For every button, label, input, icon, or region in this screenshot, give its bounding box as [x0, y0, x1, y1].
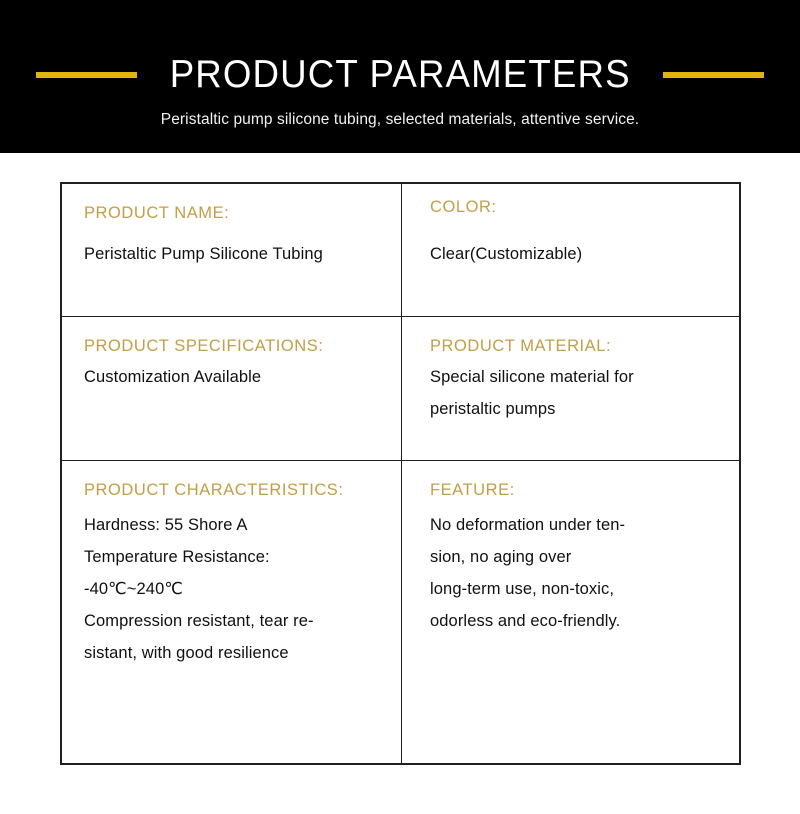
spec-value-line: Special silicone material for: [430, 361, 719, 393]
spec-value-line: peristaltic pumps: [430, 393, 719, 425]
spec-value: No deformation under ten- sion, no aging…: [430, 509, 719, 637]
spec-cell-product-characteristics: PRODUCT CHARACTERISTICS: Hardness: 55 Sh…: [62, 461, 402, 763]
spec-value: Peristaltic Pump Silicone Tubing: [84, 238, 381, 270]
spec-value-line: Customization Available: [84, 361, 381, 393]
spec-value-line: Clear(Customizable): [430, 238, 719, 270]
spec-value-line: Hardness: 55 Shore A: [84, 509, 381, 541]
spec-value-line: odorless and eco-friendly.: [430, 605, 719, 637]
spec-value-line: Temperature Resistance:: [84, 541, 381, 573]
spec-label: COLOR:: [430, 196, 719, 218]
spec-value: Clear(Customizable): [430, 238, 719, 270]
spec-value-line: -40℃~240℃: [84, 573, 381, 605]
spec-cell-product-specifications: PRODUCT SPECIFICATIONS: Customization Av…: [62, 317, 402, 460]
title-rule-left-decoration: [36, 72, 137, 78]
spec-label: PRODUCT MATERIAL:: [430, 335, 719, 357]
spec-value: Customization Available: [84, 361, 381, 393]
spec-label: FEATURE:: [430, 479, 719, 501]
spec-label: PRODUCT NAME:: [84, 202, 381, 224]
header-band: PRODUCT PARAMETERS Peristaltic pump sili…: [0, 0, 800, 153]
spec-value-line: sion, no aging over: [430, 541, 719, 573]
spec-value-line: Peristaltic Pump Silicone Tubing: [84, 238, 381, 270]
spec-label: PRODUCT SPECIFICATIONS:: [84, 335, 381, 357]
spec-value-line: Compression resistant, tear re-: [84, 605, 381, 637]
spec-value: Special silicone material for peristalti…: [430, 361, 719, 425]
title-row: PRODUCT PARAMETERS: [0, 48, 800, 102]
spec-cell-product-name: PRODUCT NAME: Peristaltic Pump Silicone …: [62, 184, 402, 316]
page-title: PRODUCT PARAMETERS: [153, 53, 648, 97]
table-row: PRODUCT CHARACTERISTICS: Hardness: 55 Sh…: [62, 461, 739, 763]
spec-cell-color: COLOR: Clear(Customizable): [402, 184, 739, 316]
title-rule-right-decoration: [663, 72, 764, 78]
table-row: PRODUCT NAME: Peristaltic Pump Silicone …: [62, 184, 739, 317]
page-subtitle: Peristaltic pump silicone tubing, select…: [0, 110, 800, 130]
spec-cell-product-material: PRODUCT MATERIAL: Special silicone mater…: [402, 317, 739, 460]
spec-cell-feature: FEATURE: No deformation under ten- sion,…: [402, 461, 739, 763]
spec-value-line: long-term use, non-toxic,: [430, 573, 719, 605]
product-parameters-table: PRODUCT NAME: Peristaltic Pump Silicone …: [60, 182, 741, 765]
spec-value: Hardness: 55 Shore A Temperature Resista…: [84, 509, 381, 669]
spec-value-line: sistant, with good resilience: [84, 637, 381, 669]
table-row: PRODUCT SPECIFICATIONS: Customization Av…: [62, 317, 739, 461]
spec-label: PRODUCT CHARACTERISTICS:: [84, 479, 381, 501]
spec-value-line: No deformation under ten-: [430, 509, 719, 541]
